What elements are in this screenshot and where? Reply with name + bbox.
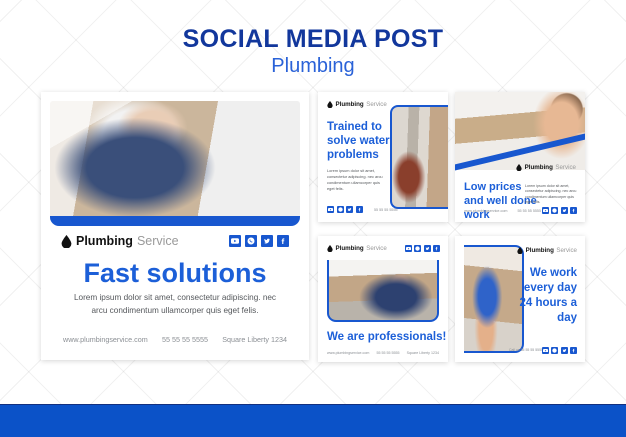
youtube-icon[interactable] <box>542 207 549 214</box>
social-links[interactable] <box>225 235 289 247</box>
card-footer: www.plumbingservice.com 55 55 55 5555 Sq… <box>327 351 439 355</box>
card-headline: We are professionals! <box>327 331 446 343</box>
twitter-icon[interactable] <box>424 245 431 252</box>
plumber-under-bathtub-photo <box>50 101 300 220</box>
card-fast-solutions[interactable]: Plumbing Service Fast solutions Lorem ip… <box>41 92 309 360</box>
address-text: Square Liberty 1234 <box>407 351 439 355</box>
water-drop-icon <box>61 235 72 248</box>
facebook-icon[interactable] <box>433 245 440 252</box>
brand-name-light: Service <box>556 247 577 254</box>
phone-text: 55 55 55 5555 <box>162 335 208 344</box>
card-headline: Trained to solve water problems <box>327 120 391 162</box>
phone-text: 55 55 55 5555 <box>376 351 399 355</box>
brand-name-light: Service <box>366 245 387 252</box>
address-text: Square Liberty 1234 <box>222 335 287 344</box>
website-text: www.plumbingservice.com <box>327 351 369 355</box>
card-body-text: Lorem ipsum dolor sit amet, consectetur … <box>327 168 387 191</box>
facebook-icon[interactable] <box>570 347 577 354</box>
social-links[interactable] <box>402 245 440 252</box>
website-text: www.plumbingservice.com <box>63 335 148 344</box>
call-us-text: Call us 55 55 55 5555 <box>509 348 543 352</box>
brand-logo: Plumbing Service <box>61 234 179 248</box>
card-body-text: Lorem ipsum dolor sit amet, consectetur … <box>69 292 281 317</box>
whatsapp-icon[interactable] <box>245 235 257 247</box>
youtube-icon[interactable] <box>327 206 334 213</box>
social-links[interactable] <box>539 207 577 214</box>
card-headline: We work every day 24 hours a day <box>515 266 577 326</box>
brand-name-bold: Plumbing <box>76 234 133 248</box>
facebook-icon[interactable] <box>356 206 363 213</box>
phone-text: 55 55 55 5555 <box>517 209 541 213</box>
water-drop-icon <box>517 247 523 254</box>
facebook-icon[interactable] <box>570 207 577 214</box>
twitter-icon[interactable] <box>561 207 568 214</box>
website-text: www.plumbingservice.com <box>464 209 507 213</box>
card-body-text: Lorem ipsum dolor sit amet, consectetur … <box>525 184 577 206</box>
brand-name-bold: Plumbing <box>336 101 364 108</box>
water-drop-icon <box>327 245 333 252</box>
brand-name-bold: Plumbing <box>526 247 554 254</box>
page-subtitle: Plumbing <box>0 54 626 79</box>
whatsapp-icon[interactable] <box>551 207 558 214</box>
whatsapp-icon[interactable] <box>337 206 344 213</box>
twitter-icon[interactable] <box>346 206 353 213</box>
card-top-row: Plumbing Service <box>61 234 289 248</box>
twitter-icon[interactable] <box>261 235 273 247</box>
youtube-icon[interactable] <box>405 245 412 252</box>
youtube-icon[interactable] <box>542 347 549 354</box>
page-header: SOCIAL MEDIA POST Plumbing <box>0 26 626 79</box>
smiling-plumber-photo <box>455 92 585 170</box>
brand-name-light: Service <box>555 164 576 171</box>
plumber-lying-under-sink-photo <box>327 260 439 322</box>
card-trained-to-solve[interactable]: Plumbing Service Trained to solve water … <box>318 92 448 222</box>
blue-accent-bar <box>50 216 300 226</box>
social-links[interactable] <box>327 206 365 213</box>
brand-name-light: Service <box>137 234 179 248</box>
card-footer: www.plumbingservice.com 55 55 55 5555 <box>464 209 541 213</box>
card-low-prices[interactable]: Plumbing Service Low prices and well don… <box>455 92 585 222</box>
social-links[interactable] <box>539 347 577 354</box>
phone-text: 55 55 55 5555 <box>374 208 398 212</box>
page-title: SOCIAL MEDIA POST <box>0 26 626 52</box>
brand-logo: Plumbing Service <box>517 247 577 254</box>
whatsapp-icon[interactable] <box>551 347 558 354</box>
card-we-work-every-day[interactable]: Plumbing Service We work every day 24 ho… <box>455 236 585 362</box>
card-headline: Fast solutions <box>41 258 309 289</box>
twitter-icon[interactable] <box>561 347 568 354</box>
brand-name-light: Service <box>366 101 387 108</box>
brand-name-bold: Plumbing <box>525 164 553 171</box>
whatsapp-icon[interactable] <box>414 245 421 252</box>
card-we-are-professionals[interactable]: Plumbing Service We are professionals! w… <box>318 236 448 362</box>
brand-name-bold: Plumbing <box>336 245 364 252</box>
youtube-icon[interactable] <box>229 235 241 247</box>
pipes-under-sink-photo <box>390 105 448 209</box>
brand-logo: Plumbing Service <box>327 245 387 252</box>
brand-logo: Plumbing Service <box>327 101 387 108</box>
brand-logo: Plumbing Service <box>516 164 576 171</box>
bottom-bar-hairline <box>0 404 626 405</box>
card-footer: www.plumbingservice.com 55 55 55 5555 Sq… <box>63 335 287 344</box>
facebook-icon[interactable] <box>277 235 289 247</box>
water-drop-icon <box>327 101 333 108</box>
water-drop-icon <box>516 164 522 171</box>
card-image-wrapper <box>50 101 300 220</box>
poster-stage: SOCIAL MEDIA POST Plumbing Plumbing Serv… <box>0 0 626 437</box>
bottom-blue-bar <box>0 405 626 437</box>
